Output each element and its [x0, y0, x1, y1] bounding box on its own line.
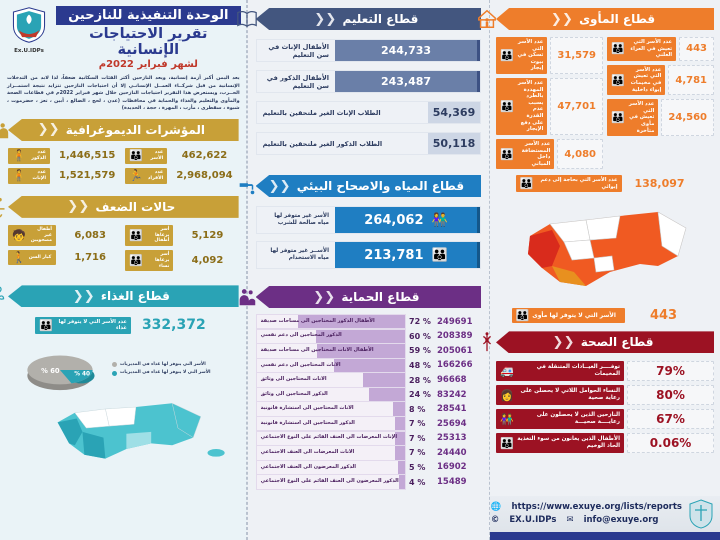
- protection-count: 25313: [437, 433, 481, 443]
- middle-column: قطاع التعليم ❮❮ 244,733 الأطفال الإناث ف…: [247, 0, 490, 540]
- shelter-section-header: قطاع المأوى ❮❮: [496, 8, 714, 30]
- health-item: 67% النازحين الذين لا يحصلون على رعايـــ…: [496, 409, 714, 429]
- protection-bar-fill: [395, 446, 405, 459]
- report-title: تقرير الاحتياجات الإنسانية: [56, 26, 241, 58]
- protection-bar: الاناث المحتاجين الى دعم نفسي: [256, 358, 406, 373]
- vulnerability-value: 1,716: [59, 250, 121, 265]
- protection-bar: الإناث المعرضات الى العنف القائم على الن…: [256, 431, 406, 446]
- health-value: 67%: [627, 409, 714, 429]
- protection-label: الأطفال الذكور المحتاجين الى مساحات صديق…: [261, 319, 375, 325]
- protection-bar: الذكور المحتاجين الى استشارة قانونية: [256, 416, 406, 431]
- shelter-house-icon: [476, 8, 498, 30]
- protection-count: 16902: [437, 462, 481, 472]
- protection-section: قطاع الحماية ❮❮ 24969172 %الأطفال الذكور…: [248, 276, 489, 489]
- protection-percent: 28 %: [406, 376, 437, 385]
- protection-label: الذكور المعرضون الى العنف القائم على الن…: [261, 479, 399, 485]
- protection-bar: الأطفال الاناث المحتاجين الى مساحات صديق…: [256, 343, 406, 358]
- disabled-person-icon: [0, 196, 10, 218]
- health-section-header: قطاع الصحة ❮❮: [496, 331, 714, 353]
- vulnerability-grid: 5,129 أسر يرعاها أطفال 👪 4,092 أسر يرعاه…: [8, 225, 239, 275]
- food-headline-label: عدد الأسر التي لا يتوفر لها غذاء 👪: [35, 317, 131, 334]
- protection-section-header: قطاع الحماية ❮❮: [256, 286, 481, 308]
- shelter-support-value: 138,097: [625, 175, 695, 192]
- ambulance-icon: 🚑: [500, 366, 514, 377]
- education-section: قطاع التعليم ❮❮ 244,733 الأطفال الإناث ف…: [248, 0, 489, 155]
- two-people-icon: 👫: [432, 213, 448, 228]
- vulnerability-item: 4,092 أسر يرعاها نساء 👪: [125, 250, 238, 271]
- vulnerability-label: أسر يرعاها أطفال 👪: [125, 225, 173, 246]
- wash-value: 264,062: [364, 213, 423, 228]
- health-section: قطاع الصحة ❮❮ 79% توفــــر العيــادات ال…: [490, 325, 720, 453]
- protection-row: 24969172 %الأطفال الذكور المحتاجين الى م…: [256, 315, 481, 328]
- protection-row: 8324224 %الذكور المحتاجين الى وثائق: [256, 388, 481, 401]
- family-icon: 👪: [500, 50, 514, 61]
- protection-bar-fill: [393, 402, 405, 415]
- report-period: لشهر فبراير 2022م: [56, 59, 241, 70]
- running-person-icon: 🏃: [129, 170, 143, 181]
- health-item: 79% توفــــر العيــادات المتنقلة في المخ…: [496, 361, 714, 381]
- vulnerability-item-text: كبار السن: [29, 255, 52, 261]
- protection-bar: الاناث المحتاجين الى استشارة قانونية: [256, 401, 406, 416]
- family-icon: 👪: [500, 438, 514, 449]
- protection-row: 169025 %الذكور المعرضون الى العنف الاجتم…: [256, 461, 481, 474]
- demographics-item: 2,968,094 عدد الأفراد 🏃: [125, 168, 238, 184]
- demographics-item: 1,446,515 عدد الذكور 🧍: [8, 148, 121, 164]
- infographic-page: قطاع المأوى ❮❮ 443 عدد الأسر التي تعيش ف…: [0, 0, 720, 540]
- education-item: 50,118 الطلاب الذكور الغير ملتحقين بالتع…: [256, 132, 481, 155]
- chevron-left-icon: ❮❮: [38, 123, 60, 136]
- protection-count: 249691: [437, 317, 481, 327]
- shelter-col-left: 31,579 عدد الأسر التي تسكن في بيوت إيجار…: [496, 37, 603, 173]
- protection-percent: 7 %: [406, 448, 437, 457]
- vulnerability-label: أسر يرعاها نساء 👪: [125, 250, 173, 271]
- right-column: الوحدة التنفيذية للنازحين تقرير الاحتياج…: [0, 0, 247, 540]
- health-item-text: النساء الحوامل اللاتي لا يحصلن على رعاية…: [517, 388, 620, 402]
- protection-bar-fill: [399, 475, 405, 488]
- protection-percent: 24 %: [406, 390, 437, 399]
- organization-logo: Ex.U.IDPs: [6, 6, 52, 54]
- chevron-left-icon: ❮❮: [314, 13, 336, 26]
- demographics-item: 1,521,579 عدد الإناث 🧍: [8, 168, 121, 184]
- vulnerability-value: 5,129: [176, 225, 238, 246]
- protection-percent: 7 %: [406, 419, 437, 428]
- health-title: قطاع الصحة: [577, 335, 658, 349]
- protection-rows: 24969172 %الأطفال الذكور المحتاجين الى م…: [256, 315, 481, 489]
- report-intro: يعد اليمن أكبر أزمة إنسانية، ويعد النازح…: [0, 70, 247, 113]
- family-icon: 👪: [516, 310, 530, 321]
- family-icon: 👪: [611, 112, 625, 123]
- vulnerability-item-text: أسر يرعاها نساء: [146, 252, 169, 269]
- protection-count: 166266: [437, 360, 481, 370]
- wash-label: الأسر غير متوفر لها مياه صالحة للشرب: [257, 207, 335, 233]
- education-value: 54,369: [428, 102, 480, 123]
- demographics-item: 462,622 عدد الأسر 👪: [125, 148, 238, 164]
- shelter-item-text: عدد الأسر المهددة بالطرد بسبب عدم القدرة…: [517, 80, 544, 133]
- shelter-item-text: عدد الأسر التي تعيش في العراء العلني: [628, 39, 672, 59]
- emblem-icon: [688, 499, 714, 529]
- shelter-item: 4,080 عدد الأسر المستضافة داخل المباني 👪: [496, 139, 603, 169]
- wash-item: 👫 264,062 الأسر غير متوفر لها مياه صالحة…: [256, 206, 481, 234]
- protection-bar-fill: [363, 373, 405, 386]
- caduceus-icon: [476, 331, 498, 353]
- protection-row: 154894 %الذكور المعرضون الى العنف القائم…: [256, 475, 481, 488]
- health-value: 79%: [627, 361, 714, 381]
- shelter-item-text: عدد الأسر المستضافة داخل المباني: [517, 141, 551, 167]
- wash-value-wrap: 👫 264,062: [335, 207, 480, 233]
- protection-label: الذكور المحتاجين الى استشارة قانونية: [261, 421, 355, 427]
- vulnerability-value: 6,083: [59, 225, 121, 246]
- education-value: 243,487: [335, 71, 480, 92]
- family-icon: 👪: [39, 320, 53, 331]
- shelter-map: [490, 194, 720, 304]
- shelter-item-text: عدد الأسر التي تسكن في بيوت إيجار: [517, 39, 544, 72]
- demographics-label: عدد الذكور 🧍: [8, 148, 50, 164]
- family-icon: 👪: [611, 75, 625, 86]
- wash-item: 👪 213,781 الأســر غير متوفر لها مياه الا…: [256, 241, 481, 269]
- protection-percent: 5 %: [406, 463, 437, 472]
- vulnerability-item: 6,083 أطفال غير مصحوبين 🧒: [8, 225, 121, 246]
- shelter-value: 31,579: [550, 37, 603, 74]
- protection-bar: الأطفال الذكور المحتاجين الى مساحات صديق…: [256, 314, 406, 329]
- demographics-item-text: عدد الأفراد: [146, 170, 163, 182]
- shelter-label: عدد الأسر التي تعيش في العراء العلني 👪: [607, 37, 676, 61]
- shelter-label: عدد الأسر المهددة بالطرد بسبب عدم القدرة…: [496, 78, 547, 135]
- education-value: 50,118: [428, 133, 480, 154]
- org-title: الوحدة التنفيذية للنازحين: [56, 6, 241, 25]
- shelter-item: 31,579 عدد الأسر التي تسكن في بيوت إيجار…: [496, 37, 603, 74]
- wash-label: الأســر غير متوفر لها مياه الاستخدام: [257, 242, 335, 268]
- demographics-value: 2,968,094: [170, 168, 238, 184]
- food-headline: 332,372 عدد الأسر التي لا يتوفر لها غذاء…: [8, 315, 239, 335]
- food-headline-text: عدد الأسر التي لا يتوفر لها غذاء: [56, 319, 127, 332]
- protection-row: 253137 %الإناث المعرضات الى العنف القائم…: [256, 432, 481, 445]
- education-title: قطاع التعليم: [338, 12, 422, 26]
- legend-label: الأسر التي يتوفر لها غذاء في المديريات: [120, 361, 206, 370]
- envelope-icon: ✉: [566, 514, 573, 527]
- protection-label: الاناث المحتاجين الى دعم نفسي: [261, 363, 341, 369]
- protection-bar: الذكور المحتاجين الى وثائق: [256, 387, 406, 402]
- demographics-grid: 462,622 عدد الأسر 👪 2,968,094 عدد الأفرا…: [8, 148, 239, 188]
- protection-bar: الذكور المعرضون الى العنف الاجتماعي: [256, 460, 406, 475]
- open-book-icon: [236, 8, 258, 30]
- shelter-item: 4,781 عدد الأسر التي تعيش في مخيمات إيوا…: [607, 65, 714, 95]
- demographics-col-left: 1,446,515 عدد الذكور 🧍 1,521,579 عدد الإ…: [8, 148, 121, 188]
- two-people-icon: 👫: [500, 414, 514, 425]
- protection-label: الاناث المعرضات الى العنف الاجتماعي: [261, 450, 355, 456]
- protection-count: 28541: [437, 404, 481, 414]
- protection-percent: 4 %: [406, 478, 437, 487]
- protection-label: الذكور المحتاجين الى وثائق: [261, 392, 328, 398]
- protection-row: 16626648 %الاناث المحتاجين الى دعم نفسي: [256, 359, 481, 372]
- protection-people-icon: [236, 286, 258, 308]
- protection-percent: 72 %: [406, 317, 437, 326]
- vulnerability-item-text: أسر يرعاها أطفال: [146, 227, 169, 244]
- woman-icon: 🧍: [12, 170, 26, 181]
- health-item: 0.06% الأطفال الذين يعانون من سوء التغذي…: [496, 433, 714, 453]
- legend-item: الأسر التي يتوفر لها غذاء في المديريات: [112, 361, 235, 370]
- protection-percent: 59 %: [406, 346, 437, 355]
- protection-label: الذكور المعرضون الى العنف الاجتماعي: [261, 465, 356, 471]
- legend-item: الأسر التي لا يتوفر لها غذاء في المديريا…: [112, 369, 235, 378]
- shelter-support-row: 138,097 عدد الأسر التي بحاجة إلى دعم إيو…: [496, 175, 714, 192]
- chevron-left-icon: ❮❮: [551, 13, 573, 26]
- protection-bar-fill: [395, 417, 405, 430]
- shelter-label: عدد الأسر التي تسكن في بيوت إيجار 👪: [496, 37, 547, 74]
- protection-bar-fill: [369, 388, 405, 401]
- protection-row: 244407 %الاناث المعرضات الى العنف الاجتم…: [256, 446, 481, 459]
- demographics-value: 1,446,515: [53, 148, 121, 164]
- shelter-item-text: عدد الأسر التي تعيش في مأوى متأخرة: [628, 101, 655, 134]
- family-icon: 👪: [500, 149, 514, 160]
- demographics-section: المؤشرات الديموغرافية ❮❮ 462,622 عدد الأ…: [0, 113, 247, 188]
- demographics-col-right: 462,622 عدد الأسر 👪 2,968,094 عدد الأفرا…: [125, 148, 238, 188]
- shelter-stats-grid: 443 عدد الأسر التي تعيش في العراء العلني…: [496, 37, 714, 173]
- protection-percent: 60 %: [406, 332, 437, 341]
- man-icon: 🧍: [12, 150, 26, 161]
- child-icon: 🧒: [12, 230, 26, 241]
- vulnerability-item-text: أطفال غير مصحوبين: [29, 227, 52, 244]
- family-icon: 👪: [520, 178, 534, 189]
- wash-section: قطاع المياه والاصحاح البيئي ❮❮ 👫 264,062…: [248, 163, 489, 269]
- protection-label: الأطفال الاناث المحتاجين الى مساحات صديق…: [261, 348, 374, 354]
- demographics-label: عدد الأسر 👪: [125, 148, 167, 164]
- food-section-header: قطاع الغذاء ❮❮: [8, 285, 239, 307]
- footer-email[interactable]: info@exuye.org: [584, 514, 659, 527]
- protection-count: 83242: [437, 390, 481, 400]
- chevron-left-icon: ❮❮: [313, 291, 335, 304]
- vulnerability-title: حالات الضعف: [91, 200, 179, 214]
- protection-count: 15489: [437, 477, 481, 487]
- copyright-icon: ©: [491, 514, 500, 527]
- protection-row: 20506159 %الأطفال الاناث المحتاجين الى م…: [256, 344, 481, 357]
- food-map: [8, 395, 239, 465]
- no-shelter-label: الأسر التي لا يتوفر لها مأوى 👪: [512, 308, 625, 323]
- wash-rows: 👫 264,062 الأسر غير متوفر لها مياه صالحة…: [256, 206, 481, 269]
- vulnerability-label: أطفال غير مصحوبين 🧒: [8, 225, 56, 246]
- wash-section-header: قطاع المياه والاصحاح البيئي ❮❮: [256, 175, 481, 197]
- globe-icon: 🌐: [491, 501, 502, 514]
- vulnerability-label: كبار السن 🚶: [8, 250, 56, 265]
- demographics-title: المؤشرات الديموغرافية: [62, 123, 209, 137]
- shelter-title: قطاع المأوى: [575, 12, 659, 26]
- vulnerability-value: 4,092: [176, 250, 238, 271]
- shelter-section: قطاع المأوى ❮❮ 443 عدد الأسر التي تعيش ف…: [490, 0, 720, 192]
- wash-title: قطاع المياه والاصحاح البيئي: [293, 179, 468, 193]
- family-icon: 👪: [129, 230, 143, 241]
- chevron-left-icon: ❮❮: [67, 200, 89, 213]
- protection-label: الاناث المحتاجين الى استشارة قانونية: [261, 406, 354, 412]
- footer-web-row: 🌐 https://www.exuye.org/lists/reports: [491, 501, 682, 514]
- health-label: النازحين الذين لا يحصلون على رعايــــة ص…: [496, 409, 624, 429]
- report-header: الوحدة التنفيذية للنازحين تقرير الاحتياج…: [0, 0, 247, 70]
- people-group-icon: [0, 119, 10, 141]
- health-value: 80%: [627, 385, 714, 405]
- shelter-label: عدد الأسر المستضافة داخل المباني 👪: [496, 139, 554, 169]
- wash-value-wrap: 👪 213,781: [335, 242, 480, 268]
- elderly-icon: 🚶: [12, 252, 26, 263]
- food-title: قطاع الغذاء: [97, 289, 174, 303]
- shelter-item: 443 عدد الأسر التي تعيش في العراء العلني…: [607, 37, 714, 61]
- pie-label-60: 60 %: [41, 367, 60, 375]
- protection-count: 96668: [437, 375, 481, 385]
- demographics-value: 1,521,579: [53, 168, 121, 184]
- education-label: الأطفال الإناث في سن التعليم: [257, 40, 335, 61]
- demographics-item-text: عدد الإناث: [29, 170, 46, 182]
- vulnerability-section: حالات الضعف ❮❮ 5,129 أسر يرعاها أطفال 👪: [0, 188, 247, 275]
- pie-svg: 60 % 40 %: [12, 339, 108, 399]
- pie-legend: الأسر التي يتوفر لها غذاء في المديريات ا…: [112, 361, 235, 379]
- vulnerability-section-header: حالات الضعف ❮❮: [8, 196, 239, 218]
- vulnerability-col-right: 5,129 أسر يرعاها أطفال 👪 4,092 أسر يرعاه…: [125, 225, 238, 275]
- protection-label: الذكور المحتاجين الى دعم نفسي: [261, 333, 342, 339]
- protection-bar: الذكور المعرضون الى العنف القائم على الن…: [256, 474, 406, 489]
- footer-website[interactable]: https://www.exuye.org/lists/reports: [511, 501, 682, 514]
- report-titles: الوحدة التنفيذية للنازحين تقرير الاحتياج…: [56, 6, 241, 70]
- footer-lines: 🌐 https://www.exuye.org/lists/reports © …: [491, 501, 682, 527]
- education-item: 54,369 الطلاب الإناث الغير ملتحقين بالتع…: [256, 101, 481, 124]
- wash-value: 213,781: [364, 248, 423, 263]
- education-label: الطلاب الإناث الغير ملتحقين بالتعليم: [257, 102, 428, 123]
- protection-bar-fill: [334, 359, 405, 372]
- footer-handle-row: © EX.U.IDPs ✉ info@exuye.org: [491, 514, 682, 527]
- protection-bar: الاناث المحتاجين الى وثائق: [256, 372, 406, 387]
- wheat-icon: [0, 285, 10, 307]
- education-section-header: قطاع التعليم ❮❮: [256, 8, 481, 30]
- chevron-left-icon: ❮❮: [73, 290, 95, 303]
- shelter-value: 4,781: [668, 65, 714, 95]
- footer-contact: 🌐 https://www.exuye.org/lists/reports © …: [490, 496, 720, 532]
- shelter-support-text: عدد الأسر التي بحاجة إلى دعم إيوائي: [536, 177, 617, 190]
- pie-label-40: 40 %: [74, 372, 90, 378]
- shelter-value: 443: [679, 37, 714, 61]
- yemen-map-orange: [490, 194, 720, 304]
- demographics-label: عدد الإناث 🧍: [8, 168, 50, 184]
- logo-caption: Ex.U.IDPs: [6, 48, 52, 54]
- family-icon: 👪: [129, 150, 143, 161]
- education-item: 243,487 الأطفال الذكور في سن التعليم: [256, 70, 481, 93]
- protection-row: 285418 %الاناث المحتاجين الى استشارة قان…: [256, 402, 481, 415]
- shelter-label: عدد الأسر التي تعيش في مخيمات إيواء داخل…: [607, 65, 665, 95]
- demographics-section-header: المؤشرات الديموغرافية ❮❮: [8, 119, 239, 141]
- protection-row: 256947 %الذكور المحتاجين الى استشارة قان…: [256, 417, 481, 430]
- protection-row: 20838960 %الذكور المحتاجين الى دعم نفسي: [256, 330, 481, 343]
- vulnerability-col-left: 6,083 أطفال غير مصحوبين 🧒 1,716 كبار الس…: [8, 225, 121, 275]
- protection-bar: الذكور المحتاجين الى دعم نفسي: [256, 329, 406, 344]
- protection-percent: 48 %: [406, 361, 437, 370]
- legend-label: الأسر التي لا يتوفر لها غذاء في المديريا…: [120, 369, 211, 378]
- yemen-map-teal: [29, 395, 239, 463]
- health-item-text: الأطفال الذين يعانون من سوء التغذية الحا…: [517, 436, 620, 450]
- shelter-col-right: 443 عدد الأسر التي تعيش في العراء العلني…: [607, 37, 714, 173]
- footer-handle: EX.U.IDPs: [509, 514, 556, 527]
- health-item-text: النازحين الذين لا يحصلون على رعايــــة ص…: [517, 412, 620, 426]
- family-icon: 👪: [432, 248, 448, 263]
- demographics-value: 462,622: [170, 148, 238, 164]
- food-section: قطاع الغذاء ❮❮ 332,372 عدد الأسر التي لا…: [0, 275, 247, 465]
- right-dashed-border: [246, 0, 247, 540]
- shelter-item: 24,560 عدد الأسر التي تعيش في مأوى متأخر…: [607, 99, 714, 136]
- no-shelter-box: 443 الأسر التي لا يتوفر لها مأوى 👪: [490, 306, 720, 325]
- legend-swatch-gray: [112, 362, 117, 367]
- vulnerability-item: 5,129 أسر يرعاها أطفال 👪: [125, 225, 238, 246]
- health-item-text: توفــــر العيــادات المتنقلة في المخيمات: [517, 364, 620, 378]
- health-label: النساء الحوامل اللاتي لا يحصلن على رعاية…: [496, 385, 624, 405]
- protection-percent: 7 %: [406, 434, 437, 443]
- demographics-item-text: عدد الأسر: [146, 150, 163, 162]
- chevron-left-icon: ❮❮: [553, 336, 575, 349]
- education-item: 244,733 الأطفال الإناث في سن التعليم: [256, 39, 481, 62]
- vulnerability-item: 1,716 كبار السن 🚶: [8, 250, 121, 265]
- protection-count: 208389: [437, 331, 481, 341]
- food-pie-chart: الأسر التي يتوفر لها غذاء في المديريات ا…: [8, 339, 239, 399]
- health-stats: 79% توفــــر العيــادات المتنقلة في المخ…: [496, 361, 714, 453]
- protection-label: الإناث المعرضات الى العنف القائم على الن…: [261, 435, 397, 441]
- education-rows: 244,733 الأطفال الإناث في سن التعليم 243…: [256, 39, 481, 155]
- no-shelter-value: 443: [629, 306, 699, 325]
- protection-count: 24440: [437, 448, 481, 458]
- protection-bar: الاناث المعرضات الى العنف الاجتماعي: [256, 445, 406, 460]
- no-shelter-text: الأسر التي لا يتوفر لها مأوى: [532, 312, 616, 320]
- shelter-value: 24,560: [661, 99, 714, 136]
- protection-percent: 8 %: [406, 405, 437, 414]
- demographics-label: عدد الأفراد 🏃: [125, 168, 167, 184]
- education-label: الطلاب الذكور الغير ملتحقين بالتعليم: [257, 133, 428, 154]
- education-label: الأطفال الذكور في سن التعليم: [257, 71, 335, 92]
- legend-swatch-teal: [112, 371, 117, 376]
- pregnant-woman-icon: 👩: [500, 390, 514, 401]
- bottom-blue-bar: [490, 532, 720, 540]
- food-headline-value: 332,372: [136, 315, 212, 335]
- health-label: الأطفال الذين يعانون من سوء التغذية الحا…: [496, 433, 624, 453]
- chevron-left-icon: ❮❮: [269, 180, 291, 193]
- education-value: 244,733: [335, 40, 480, 61]
- health-item: 80% النساء الحوامل اللاتي لا يحصلن على ر…: [496, 385, 714, 405]
- shield-logo-icon: [9, 6, 49, 44]
- protection-row: 9666828 %الاناث المحتاجين الى وثائق: [256, 373, 481, 386]
- family-icon: 👪: [611, 43, 625, 54]
- shelter-support-label: عدد الأسر التي بحاجة إلى دعم إيوائي 👪: [516, 175, 622, 192]
- family-icon: 👪: [129, 255, 143, 266]
- protection-count: 25694: [437, 419, 481, 429]
- shelter-value: 47,701: [550, 78, 603, 135]
- demographics-item-text: عدد الذكور: [29, 150, 46, 162]
- health-label: توفــــر العيــادات المتنقلة في المخيمات…: [496, 361, 624, 381]
- shelter-item-text: عدد الأسر التي تعيش في مخيمات إيواء داخل…: [628, 67, 662, 93]
- family-icon: 👪: [500, 101, 514, 112]
- protection-bar-fill: [398, 461, 405, 474]
- left-column: قطاع المأوى ❮❮ 443 عدد الأسر التي تعيش ف…: [490, 0, 720, 540]
- shelter-label: عدد الأسر التي تعيش في مأوى متأخرة 👪: [607, 99, 658, 136]
- health-value: 0.06%: [627, 433, 714, 453]
- faucet-icon: [236, 175, 258, 197]
- protection-title: قطاع الحماية: [337, 290, 423, 304]
- protection-label: الاناث المحتاجين الى وثائق: [261, 377, 327, 383]
- shelter-item: 47,701 عدد الأسر المهددة بالطرد بسبب عدم…: [496, 78, 603, 135]
- protection-count: 205061: [437, 346, 481, 356]
- shelter-value: 4,080: [557, 139, 603, 169]
